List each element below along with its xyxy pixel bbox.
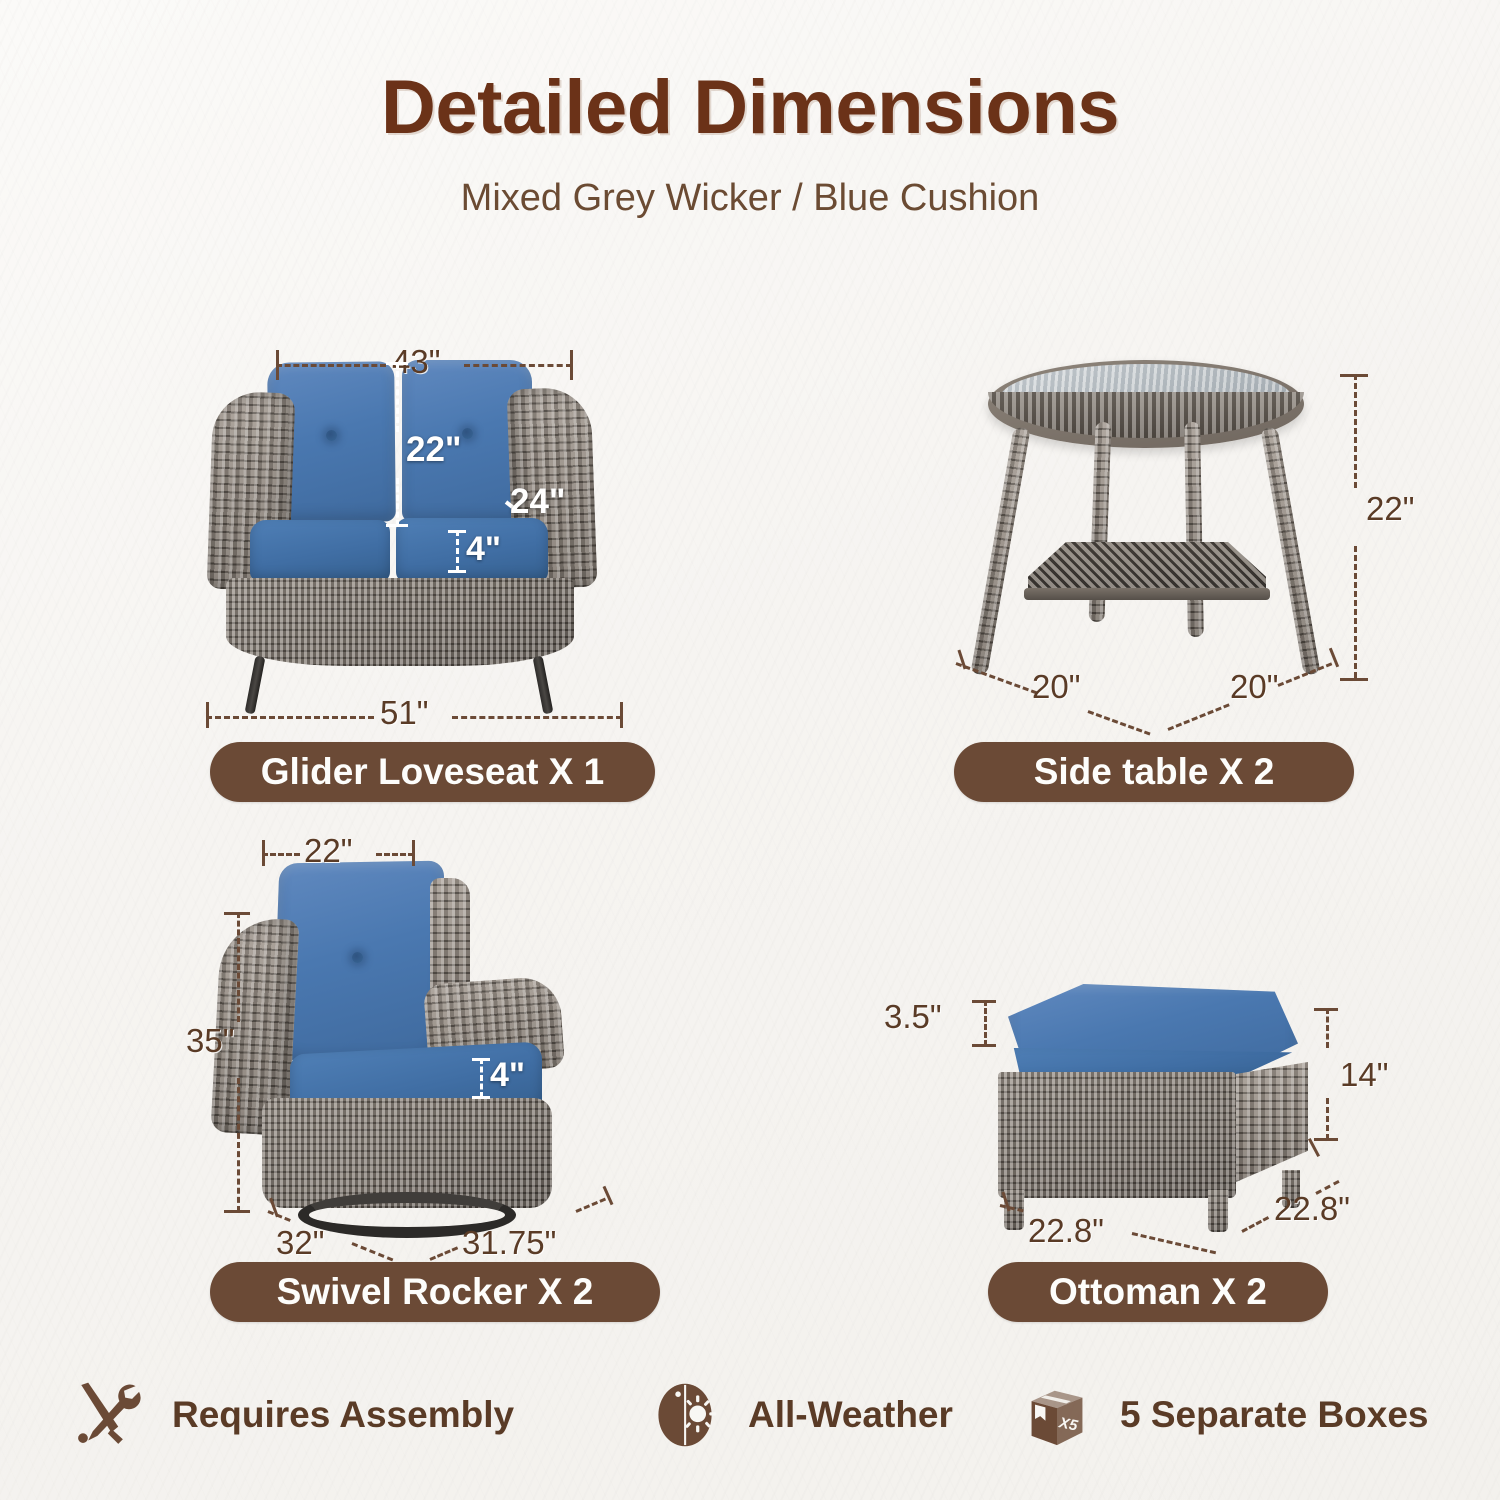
product-label-side-table[interactable]: Side table X 2 [954, 742, 1354, 802]
header: Detailed Dimensions Mixed Grey Wicker / … [0, 64, 1500, 220]
tools-icon [72, 1378, 146, 1452]
dim-glider-overall-width: 51" [380, 694, 428, 732]
dim-glider-seat-thickness: 4" [466, 530, 501, 569]
dim-rocker-base-depth: 31.75" [462, 1224, 556, 1262]
side-table-illustration: 22" 20" 20" [900, 330, 1420, 730]
dim-glider-seat-depth: 24" [510, 482, 566, 522]
dim-rocker-overall-height: 35" [186, 1022, 234, 1060]
dim-side-table-depth-left: 20" [1032, 668, 1080, 706]
dim-ottoman-width: 22.8" [1028, 1212, 1104, 1250]
page-subtitle: Mixed Grey Wicker / Blue Cushion [0, 177, 1500, 220]
feature-label: All-Weather [748, 1394, 953, 1436]
glider-loveseat-illustration: 43" 22" 24" 4" 51" [180, 330, 700, 730]
dim-rocker-base-width: 32" [276, 1224, 324, 1262]
feature-requires-assembly: Requires Assembly [72, 1378, 514, 1452]
product-label-ottoman[interactable]: Ottoman X 2 [988, 1262, 1328, 1322]
dim-rocker-seat-thickness: 4" [490, 1056, 525, 1095]
dim-ottoman-depth: 22.8" [1274, 1190, 1350, 1228]
moon-sun-icon [648, 1378, 722, 1452]
dim-ottoman-height: 14" [1340, 1056, 1388, 1094]
feature-label: 5 Separate Boxes [1120, 1394, 1429, 1436]
ottoman-illustration: 3.5" 14" 22.8" 22.8" [900, 960, 1420, 1260]
page-title: Detailed Dimensions [0, 64, 1500, 151]
feature-row: Requires Assembly [0, 1368, 1500, 1472]
dim-side-table-depth-right: 20" [1230, 668, 1278, 706]
dim-rocker-back-width: 22" [304, 832, 352, 870]
dim-side-table-height: 22" [1366, 490, 1414, 528]
product-panel-ottoman: 3.5" 14" 22.8" 22.8" Ottoman X 2 [900, 960, 1420, 1320]
boxes-icon: X5 [1020, 1378, 1094, 1452]
product-panel-side-table: 22" 20" 20" Side table X 2 [900, 330, 1420, 810]
dim-ottoman-cushion-thickness: 3.5" [884, 998, 942, 1036]
infographic-page: Detailed Dimensions Mixed Grey Wicker / … [0, 0, 1500, 1500]
swivel-rocker-illustration: 22" 35" 4" 32" 31.75" [180, 830, 700, 1240]
dim-glider-back-cushion-height: 22" [406, 430, 462, 470]
product-panel-glider-loveseat: 43" 22" 24" 4" 51" Glider Loveseat X 1 [180, 330, 700, 810]
product-label-swivel-rocker[interactable]: Swivel Rocker X 2 [210, 1262, 660, 1322]
feature-label: Requires Assembly [172, 1394, 514, 1436]
feature-all-weather: All-Weather [648, 1378, 953, 1452]
product-panel-swivel-rocker: 22" 35" 4" 32" 31.75" Swivel Rocker X 2 [180, 830, 700, 1320]
feature-separate-boxes: X5 5 Separate Boxes [1020, 1378, 1429, 1452]
product-label-glider-loveseat[interactable]: Glider Loveseat X 1 [210, 742, 655, 802]
